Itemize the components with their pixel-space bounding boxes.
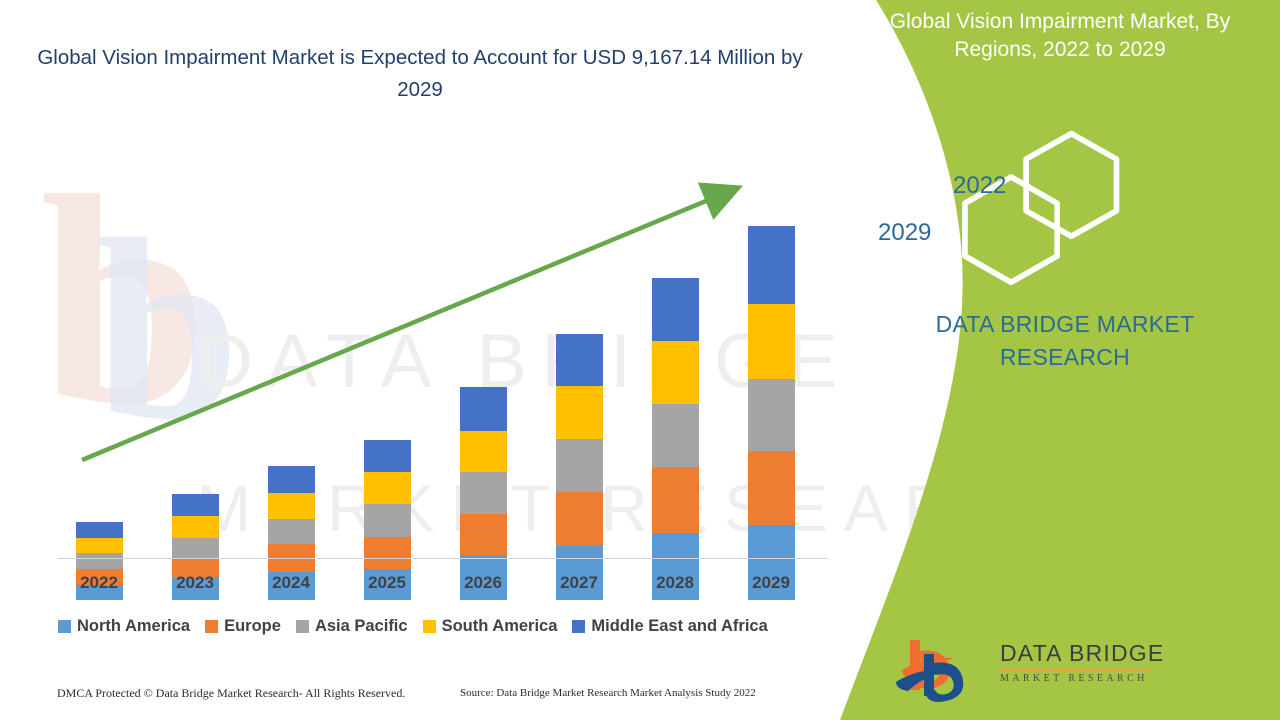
segment-europe <box>652 467 699 533</box>
legend-label: Europe <box>224 617 281 636</box>
legend-swatch-icon <box>58 620 71 633</box>
x-axis-tick-2023: 2023 <box>160 573 230 593</box>
segment-middle-east-and-africa <box>460 387 507 431</box>
segment-asia-pacific <box>364 504 411 537</box>
legend-item-asia-pacific[interactable]: Asia Pacific <box>296 617 408 636</box>
bar-column-2027[interactable] <box>556 334 603 600</box>
segment-asia-pacific <box>652 404 699 467</box>
legend-label: Asia Pacific <box>315 617 408 636</box>
segment-south-america <box>556 386 603 439</box>
bar-column-2029[interactable] <box>748 226 795 600</box>
legend-label: South America <box>442 617 558 636</box>
bar-column-2028[interactable] <box>652 278 699 600</box>
legend-swatch-icon <box>572 620 585 633</box>
x-axis-tick-2027: 2027 <box>544 573 614 593</box>
hexagon-pair-icon <box>950 128 1170 288</box>
segment-asia-pacific <box>268 519 315 544</box>
infographic-page: b b DATA BRIDGE MARKET RESEARCH Global V… <box>0 0 1280 720</box>
x-axis-tick-2029: 2029 <box>736 573 806 593</box>
segment-europe <box>364 537 411 569</box>
bar-column-2026[interactable] <box>460 387 507 600</box>
segment-europe <box>460 514 507 555</box>
segment-middle-east-and-africa <box>268 466 315 493</box>
segment-asia-pacific <box>172 538 219 559</box>
legend-swatch-icon <box>205 620 218 633</box>
segment-south-america <box>76 538 123 553</box>
segment-south-america <box>652 341 699 404</box>
x-axis-tick-2024: 2024 <box>256 573 326 593</box>
legend-item-south-america[interactable]: South America <box>423 617 558 636</box>
segment-asia-pacific <box>76 553 123 569</box>
logo-subtitle: MARKET RESEARCH <box>1000 673 1180 684</box>
segment-middle-east-and-africa <box>556 334 603 386</box>
segment-middle-east-and-africa <box>748 226 795 304</box>
x-axis-tick-2028: 2028 <box>640 573 710 593</box>
legend-item-middle-east-and-africa[interactable]: Middle East and Africa <box>572 617 767 636</box>
logo-text-block: DATA BRIDGE MARKET RESEARCH <box>1000 640 1180 684</box>
segment-asia-pacific <box>556 439 603 492</box>
segment-south-america <box>172 516 219 538</box>
legend-swatch-icon <box>423 620 436 633</box>
logo-title: DATA BRIDGE <box>1000 640 1180 667</box>
panel-brand-name: DATA BRIDGE MARKET RESEARCH <box>880 308 1250 373</box>
segment-asia-pacific <box>460 472 507 514</box>
chart-legend: North America Europe Asia Pacific South … <box>58 617 768 636</box>
segment-south-america <box>748 304 795 379</box>
segment-middle-east-and-africa <box>172 494 219 516</box>
segment-middle-east-and-africa <box>652 278 699 341</box>
segment-europe <box>556 492 603 546</box>
legend-item-europe[interactable]: Europe <box>205 617 281 636</box>
legend-label: Middle East and Africa <box>591 617 767 636</box>
segment-middle-east-and-africa <box>364 440 411 472</box>
x-axis-line <box>58 558 828 559</box>
segment-south-america <box>268 493 315 519</box>
x-axis-tick-2025: 2025 <box>352 573 422 593</box>
copyright-notice: DMCA Protected © Data Bridge Market Rese… <box>57 686 405 701</box>
segment-south-america <box>364 472 411 504</box>
segment-south-america <box>460 431 507 472</box>
x-axis-tick-2026: 2026 <box>448 573 518 593</box>
segment-asia-pacific <box>748 379 795 451</box>
legend-item-north-america[interactable]: North America <box>58 617 190 636</box>
x-axis-tick-2022: 2022 <box>64 573 134 593</box>
legend-swatch-icon <box>296 620 309 633</box>
brand-panel: Global Vision Impairment Market, By Regi… <box>840 0 1280 720</box>
hexagon-label-2029: 2029 <box>878 219 931 247</box>
legend-label: North America <box>77 617 190 636</box>
hexagon-label-2022: 2022 <box>953 172 1006 200</box>
segment-europe <box>748 451 795 525</box>
segment-middle-east-and-africa <box>76 522 123 538</box>
bar-chart-plot <box>0 0 860 600</box>
panel-title: Global Vision Impairment Market, By Regi… <box>870 8 1250 63</box>
source-notice: Source: Data Bridge Market Research Mark… <box>460 687 756 699</box>
logo-divider <box>1000 669 1150 671</box>
